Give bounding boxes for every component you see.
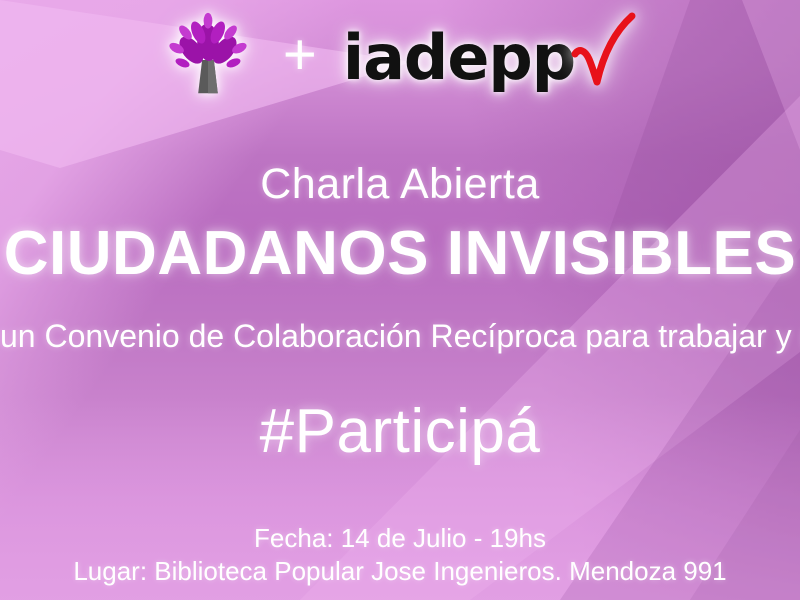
- logo-row: + iadepp: [0, 6, 800, 110]
- event-date: Fecha: 14 de Julio - 19hs: [0, 523, 800, 554]
- event-poster: + iadepp Charla Abierta CIUDADANOS INVIS…: [0, 0, 800, 600]
- plus-icon: +: [257, 26, 343, 84]
- kicker-text: Charla Abierta: [0, 160, 800, 209]
- check-mark-icon: [569, 10, 641, 96]
- subtitle-text: un Convenio de Colaboración Recíproca pa…: [0, 318, 800, 355]
- iadepp-logo: iadepp: [343, 20, 641, 96]
- hashtag-text: #Participá: [0, 396, 800, 467]
- tree-icon: [159, 9, 257, 107]
- event-location: Lugar: Biblioteca Popular Jose Ingeniero…: [0, 556, 800, 587]
- page-title: CIUDADANOS INVISIBLES: [0, 218, 800, 289]
- iadepp-wordmark: iadepp: [343, 27, 575, 89]
